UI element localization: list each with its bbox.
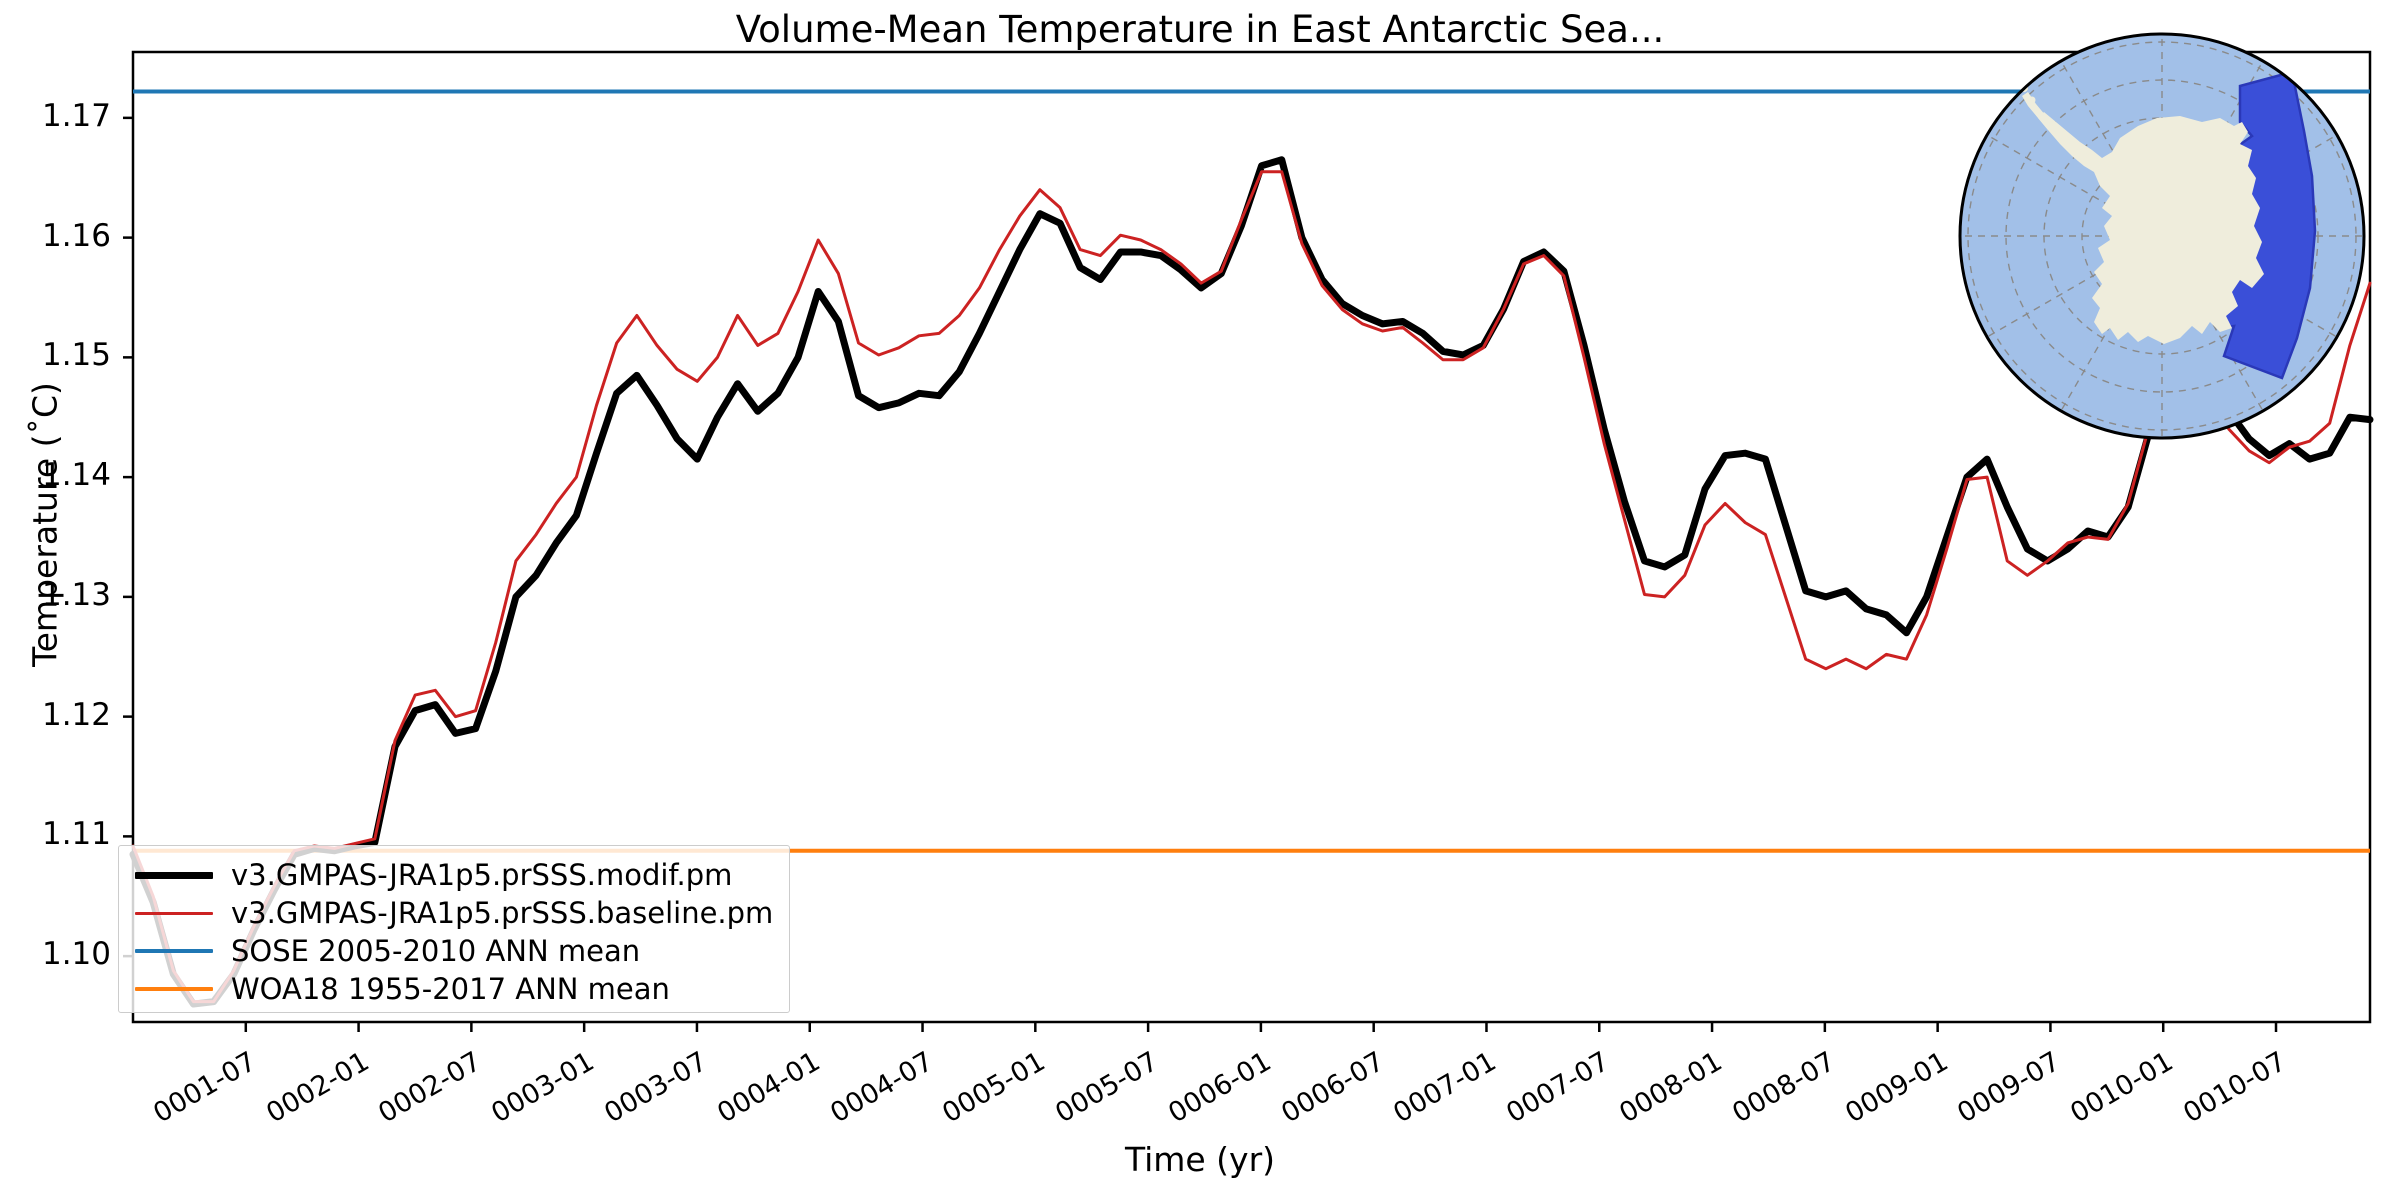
legend-item[interactable]: SOSE 2005-2010 ANN mean: [135, 932, 640, 970]
y-tick-label: 1.15: [0, 337, 111, 373]
legend-item[interactable]: v3.GMPAS-JRA1p5.prSSS.baseline.pm: [135, 894, 773, 932]
y-tick-label: 1.10: [0, 936, 111, 972]
line-swatch-red: [135, 912, 213, 915]
line-swatch-blue: [135, 949, 213, 953]
line-swatch-orange: [135, 987, 213, 991]
y-tick-label: 1.14: [0, 457, 111, 493]
y-tick-label: 1.16: [0, 218, 111, 254]
chart-legend: v3.GMPAS-JRA1p5.prSSS.modif.pmv3.GMPAS-J…: [118, 845, 790, 1013]
y-tick-label: 1.17: [0, 98, 111, 134]
legend-label: v3.GMPAS-JRA1p5.prSSS.modif.pm: [231, 858, 732, 892]
y-tick-label: 1.11: [0, 816, 111, 852]
line-swatch-black: [135, 872, 213, 879]
legend-label: v3.GMPAS-JRA1p5.prSSS.baseline.pm: [231, 896, 773, 930]
x-tick-marks: [246, 1022, 2276, 1032]
legend-item[interactable]: v3.GMPAS-JRA1p5.prSSS.modif.pm: [135, 856, 732, 894]
y-tick-marks: [123, 118, 133, 956]
y-tick-label: 1.12: [0, 697, 111, 733]
legend-item[interactable]: WOA18 1955-2017 ANN mean: [135, 970, 670, 1008]
figure-canvas: Volume-Mean Temperature in East Antarcti…: [0, 0, 2400, 1200]
y-tick-label: 1.13: [0, 577, 111, 613]
antarctica-inset-svg: [1952, 26, 2372, 446]
legend-label: SOSE 2005-2010 ANN mean: [231, 934, 640, 968]
antarctica-inset-map: [1952, 26, 2372, 446]
legend-label: WOA18 1955-2017 ANN mean: [231, 972, 670, 1006]
